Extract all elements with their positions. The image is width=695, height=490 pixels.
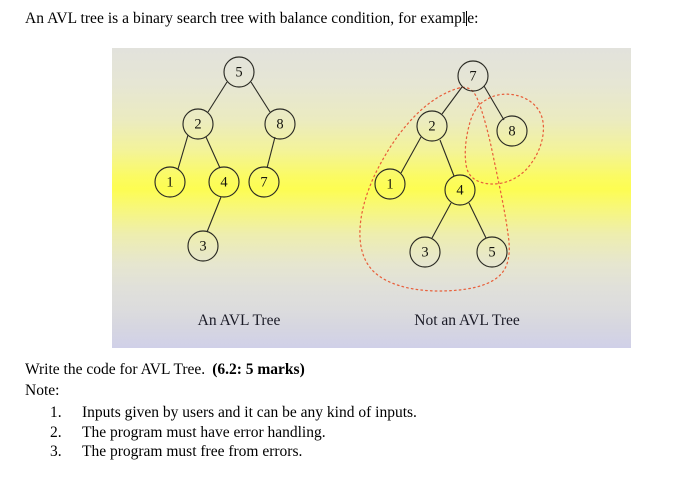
text-caret — [466, 11, 467, 26]
intro-text-part1: An AVL tree is a binary search tree with… — [25, 10, 466, 27]
node-left-7: 7 — [249, 167, 279, 197]
list-item-text: Inputs given by users and it can be any … — [82, 404, 417, 421]
node-left-3: 3 — [188, 231, 218, 261]
node-value: 3 — [421, 245, 428, 261]
node-left-1: 1 — [155, 167, 185, 197]
edge-7-8 — [484, 86, 504, 120]
node-value: 2 — [428, 119, 435, 135]
left-tree-edges — [178, 82, 275, 232]
node-value: 7 — [469, 69, 476, 85]
list-item: 2.The program must have error handling. — [25, 423, 665, 443]
edge-7-2 — [442, 87, 462, 114]
edge-2-4 — [440, 140, 454, 176]
edge-4-5 — [469, 203, 486, 238]
node-right-3: 3 — [410, 237, 440, 267]
edge-2-4 — [206, 137, 220, 168]
node-value: 5 — [235, 65, 242, 81]
right-tree-nodes: 7 2 8 1 4 3 5 — [375, 61, 527, 267]
node-right-1: 1 — [375, 169, 405, 199]
left-tree-nodes: 5 2 8 1 4 7 3 — [155, 57, 295, 261]
intro-text-part2: e: — [467, 10, 478, 27]
node-value: 1 — [166, 175, 173, 191]
node-left-5: 5 — [224, 57, 254, 87]
edge-4-3 — [207, 197, 221, 232]
node-value: 8 — [276, 117, 283, 133]
list-item: 1.Inputs given by users and it can be an… — [25, 403, 665, 423]
edge-5-8 — [251, 82, 270, 112]
list-item-number: 2. — [50, 423, 76, 443]
edge-2-1 — [178, 135, 188, 169]
list-item-text: The program must have error handling. — [82, 424, 326, 441]
task-statement-line: Write the code for AVL Tree.(6.2: 5 mark… — [25, 360, 665, 380]
node-value: 5 — [488, 245, 495, 261]
avl-trees-diagram: 5 2 8 1 4 7 3 — [112, 48, 631, 348]
node-left-2: 2 — [183, 109, 213, 139]
node-right-8: 8 — [497, 116, 527, 146]
right-subtree-region-outline — [465, 94, 543, 184]
list-item-number: 3. — [50, 442, 76, 462]
edge-8-7 — [267, 137, 275, 168]
avl-figure-panel: 5 2 8 1 4 7 3 — [112, 48, 631, 348]
node-right-7: 7 — [458, 61, 488, 91]
node-value: 4 — [456, 183, 464, 199]
node-left-8: 8 — [265, 109, 295, 139]
node-value: 2 — [194, 117, 201, 133]
node-right-4: 4 — [445, 175, 475, 205]
node-right-5: 5 — [477, 237, 507, 267]
task-text-block: Write the code for AVL Tree.(6.2: 5 mark… — [25, 360, 665, 462]
edge-2-1 — [401, 137, 421, 173]
right-tree-caption: Not an AVL Tree — [414, 312, 520, 329]
note-list: 1.Inputs given by users and it can be an… — [25, 403, 665, 462]
task-marks: (6.2: 5 marks) — [212, 361, 305, 378]
list-item-number: 1. — [50, 403, 76, 423]
right-tree-edges — [401, 86, 504, 238]
node-value: 3 — [199, 239, 206, 255]
left-tree-caption: An AVL Tree — [198, 312, 281, 329]
node-value: 8 — [508, 124, 515, 140]
intro-sentence: An AVL tree is a binary search tree with… — [25, 9, 479, 28]
node-left-4: 4 — [209, 167, 239, 197]
node-right-2: 2 — [417, 111, 447, 141]
edge-5-2 — [208, 82, 227, 112]
edge-4-3 — [432, 203, 451, 238]
list-item: 3.The program must free from errors. — [25, 442, 665, 462]
note-label: Note: — [25, 381, 665, 401]
node-value: 4 — [220, 175, 228, 191]
list-item-text: The program must free from errors. — [82, 443, 302, 460]
task-statement: Write the code for AVL Tree. — [25, 361, 205, 378]
node-value: 1 — [386, 177, 393, 193]
node-value: 7 — [260, 175, 267, 191]
